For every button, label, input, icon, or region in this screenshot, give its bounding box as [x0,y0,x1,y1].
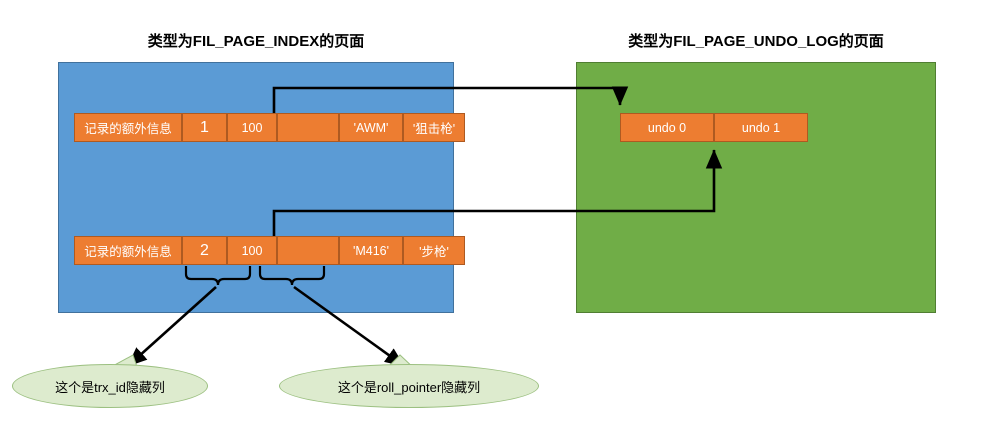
record-extra-info-cell: 记录的额外信息 [74,113,182,142]
record-type-cell: '狙击枪' [403,113,465,142]
record-type-cell: '步枪' [403,236,465,265]
record-extra-info-cell: 记录的额外信息 [74,236,182,265]
undo-page-title: 类型为FIL_PAGE_UNDO_LOG的页面 [576,30,936,51]
record-name-cell: 'AWM' [339,113,403,142]
undo-log-entry-group: undo 0 undo 1 [620,113,808,142]
index-page-title: 类型为FIL_PAGE_INDEX的页面 [58,30,454,51]
table-row: 记录的额外信息 1 100 'AWM' '狙击枪' [74,113,465,142]
record-number-cell: 100 [227,113,277,142]
record-trx-id-cell: 2 [182,236,227,265]
record-number-cell: 100 [227,236,277,265]
record-name-cell: 'M416' [339,236,403,265]
record-roll-pointer-cell [277,236,339,265]
undo-entry-0: undo 0 [620,113,714,142]
diagram-canvas: 类型为FIL_PAGE_INDEX的页面 类型为FIL_PAGE_UNDO_LO… [0,0,993,432]
undo-entry-1: undo 1 [714,113,808,142]
record-roll-pointer-cell [277,113,339,142]
undo-page-panel [576,62,936,313]
index-page-panel [58,62,454,313]
table-row: 记录的额外信息 2 100 'M416' '步枪' [74,236,465,265]
callout-trx-id: 这个是trx_id隐藏列 [12,364,208,408]
callout-roll-pointer: 这个是roll_pointer隐藏列 [279,364,539,408]
record-trx-id-cell: 1 [182,113,227,142]
